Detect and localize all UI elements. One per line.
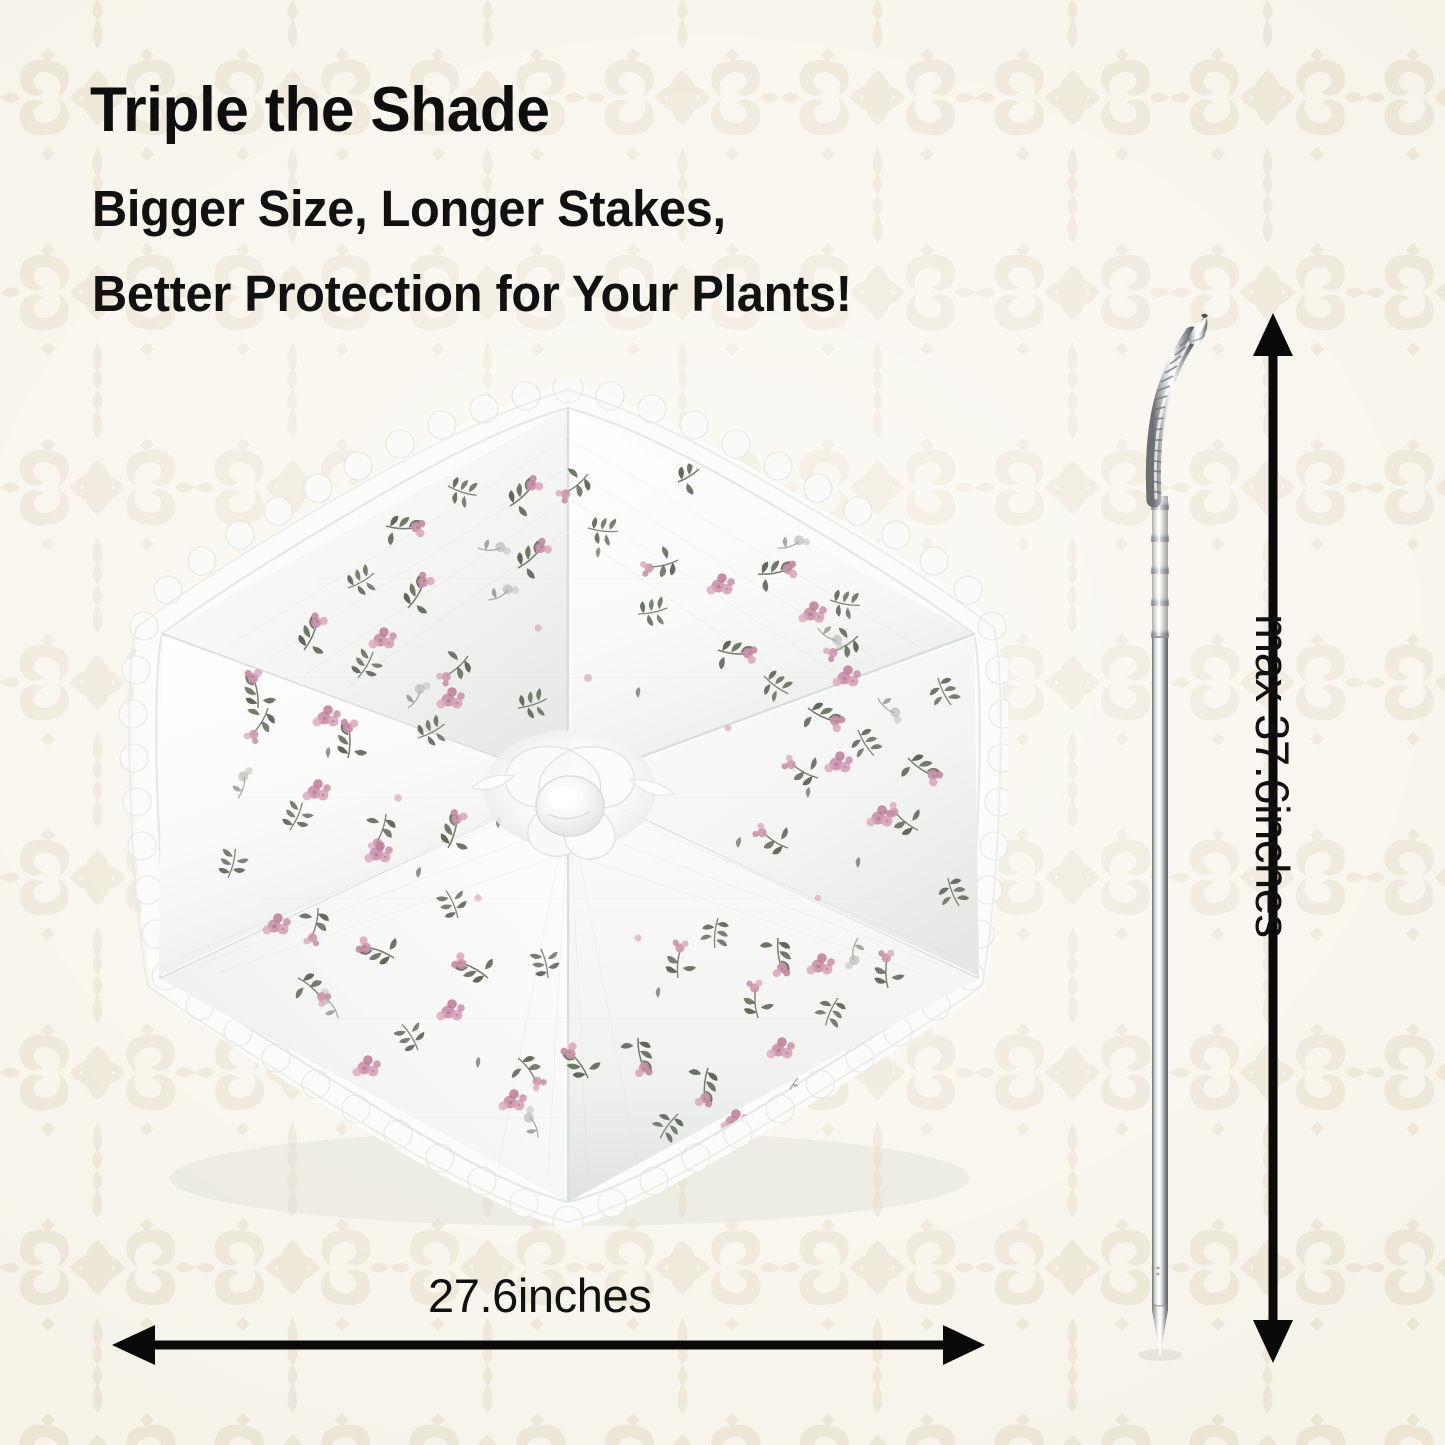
headline-text: Triple the Shade	[90, 78, 549, 142]
stake-joint-rings	[1151, 496, 1169, 638]
stake-tip-hole	[1201, 314, 1208, 318]
subheadline-line-2: Better Protection for Your Plants!	[92, 268, 852, 319]
metal-stake-product-image	[1098, 300, 1238, 1370]
umbrella-product-image	[118, 378, 1008, 1228]
subheadline-line-1: Bigger Size, Longer Stakes,	[92, 183, 726, 234]
height-dimension-label: max 37.6inches	[1245, 614, 1300, 938]
width-dimension-label: 27.6inches	[428, 1268, 651, 1323]
product-infographic: Triple the Shade Bigger Size, Longer Sta…	[0, 0, 1445, 1445]
